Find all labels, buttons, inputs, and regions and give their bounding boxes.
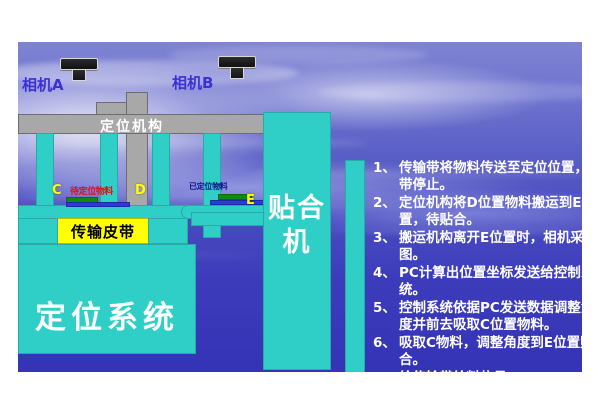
camera-a-label: 相机A [22,74,64,95]
list-item: 4、 PC计算出位置坐标发送给控制系统。 [373,265,582,299]
list-item: 2、 定位机构将D位置物料搬运到E位置，待贴合。 [373,195,582,229]
step-text: 搬运机构离开E位置时，相机采图。 [399,230,582,264]
material-pending-label: 待定位物料 [70,188,113,197]
camera-b-icon [218,56,256,82]
list-accent-bar [345,160,365,372]
station-platform-lower-right [148,218,188,244]
list-item: 7、 给传输带给料信号。 [373,370,582,372]
step-number: 5、 [373,300,399,317]
slide-page: 相机A 相机B 定位机构 待定位物料 C D 传输皮带 定位系统 [0,0,600,420]
station-platform-upper [18,205,188,219]
step-number: 4、 [373,265,399,282]
material-positioned-label: 已定位物料 [189,183,228,191]
step-text: 传输带将物料传送至定位位置，皮带停止。 [399,160,582,194]
cloud-streak [168,46,428,64]
step-text: 给传输带给料信号。 [399,370,521,372]
material-chip-blue-left [66,202,130,207]
step-number: 3、 [373,230,399,247]
step-text: 吸取C物料，调整角度到E位置贴合。 [399,335,582,369]
conveyor-belt-label: 传输皮带 [71,221,135,242]
list-item: 1、 传输带将物料传送至定位位置，皮带停止。 [373,160,582,194]
e-station-base [191,212,273,226]
list-item: 6、 吸取C物料，调整角度到E位置贴合。 [373,335,582,369]
step-number: 7、 [373,370,399,372]
positioning-system-label: 定位系统 [35,292,179,337]
step-text: 控制系统依据PC发送数据调整角度并前去吸取C位置物料。 [399,300,582,334]
list-item: 5、 控制系统依据PC发送数据调整角度并前去吸取C位置物料。 [373,300,582,334]
slide-canvas: 相机A 相机B 定位机构 待定位物料 C D 传输皮带 定位系统 [18,42,582,372]
step-number: 1、 [373,160,399,177]
conveyor-belt-box: 传输皮带 [57,218,149,244]
station-platform-lower [18,218,58,244]
point-label-c: C [52,184,62,197]
camera-b-label: 相机B [172,72,213,93]
step-text: 定位机构将D位置物料搬运到E位置，待贴合。 [399,195,582,229]
step-number: 6、 [373,335,399,352]
laminating-machine-label: 贴合机 [263,192,331,260]
process-steps-list: 1、 传输带将物料传送至定位位置，皮带停止。 2、 定位机构将D位置物料搬运到E… [373,160,582,372]
step-number: 2、 [373,195,399,212]
step-text: PC计算出位置坐标发送给控制系统。 [399,265,582,299]
cloud-streak [318,82,582,102]
camera-a-icon [60,58,98,84]
camera-lens [230,67,244,79]
point-label-d: D [135,184,146,197]
camera-lens [72,69,86,81]
list-item: 3、 搬运机构离开E位置时，相机采图。 [373,230,582,264]
